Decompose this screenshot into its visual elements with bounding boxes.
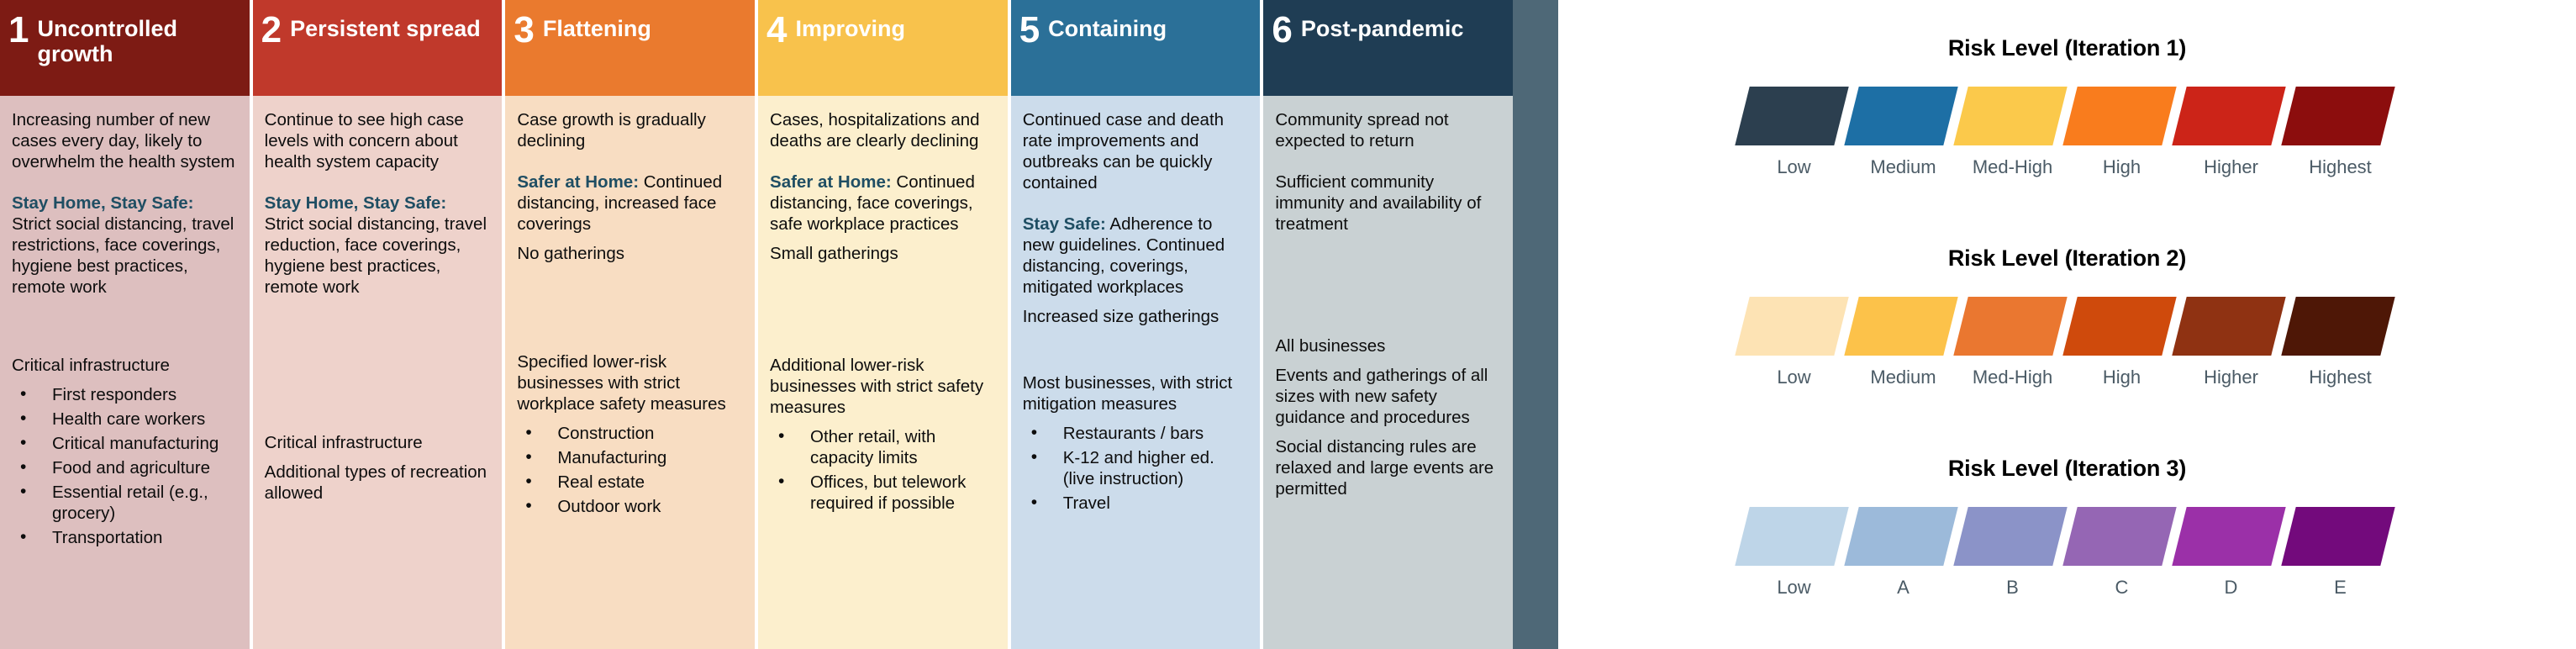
legend-title: Risk Level (Iteration 1) xyxy=(1558,35,2576,61)
list-item: Critical manufacturing xyxy=(12,433,236,454)
phase-business-bullets: First respondersHealth care workersCriti… xyxy=(12,384,236,548)
phase-header-5: 5Containing xyxy=(1011,0,1261,96)
phase-status-text: Community spread not expected to return xyxy=(1275,109,1499,151)
risk-level-legend-panel: Risk Level (Iteration 1)LowMediumMed-Hig… xyxy=(1558,0,2576,649)
phase-body-2: Continue to see high case levels with co… xyxy=(253,96,503,649)
legend-title: Risk Level (Iteration 3) xyxy=(1558,456,2576,482)
phase-business-extra: Additional types of recreation allowed xyxy=(265,462,489,504)
list-item: Construction xyxy=(517,423,741,444)
phase-number: 5 xyxy=(1019,13,1039,47)
legend-item[interactable]: Low xyxy=(1740,87,1849,178)
legend-block-1: Risk Level (Iteration 1)LowMediumMed-Hig… xyxy=(1558,17,2576,227)
phase-guidance-lead: Safer at Home: xyxy=(517,172,639,192)
legend-item[interactable]: C xyxy=(2068,507,2177,599)
legend-item[interactable]: E xyxy=(2286,507,2395,599)
legend-swatch-label: Highest xyxy=(2309,367,2372,388)
list-item: Health care workers xyxy=(12,409,236,430)
phase-status-text: Case growth is gradually declining xyxy=(517,109,741,151)
legend-swatch xyxy=(2281,297,2394,356)
phase-guidance: Sufficient community immunity and availa… xyxy=(1275,171,1499,235)
list-item: Outdoor work xyxy=(517,496,741,517)
phase-gatherings: Increased size gatherings xyxy=(1023,306,1247,327)
phase-title: Persistent spread xyxy=(290,13,481,41)
legend-swatch xyxy=(1735,507,1848,566)
legend-swatch xyxy=(1953,297,2067,356)
legend-item[interactable]: Med-High xyxy=(1958,87,2068,178)
phase-status-text: Increasing number of new cases every day… xyxy=(12,109,236,172)
layout-spacer xyxy=(770,284,994,355)
legend-swatch-label: B xyxy=(2006,577,2019,599)
legend-swatch-label: Low xyxy=(1777,577,1810,599)
phase-number: 3 xyxy=(514,13,533,47)
legend-swatch xyxy=(2172,87,2285,145)
phase-guidance-text: Strict social distancing, travel reducti… xyxy=(265,214,487,297)
phase-guidance: Stay Safe: Adherence to new guidelines. … xyxy=(1023,214,1247,298)
legend-item[interactable]: A xyxy=(1849,507,1958,599)
phase-business-bullets: ConstructionManufacturingReal estateOutd… xyxy=(517,423,741,517)
phase-header-1: 1Uncontrolled growth xyxy=(0,0,250,96)
legend-item[interactable]: High xyxy=(2068,87,2177,178)
phase-title: Improving xyxy=(796,13,906,41)
legend-swatch xyxy=(2172,507,2285,566)
phase-business-extra-2: Social distancing rules are relaxed and … xyxy=(1275,436,1499,499)
list-item: First responders xyxy=(12,384,236,405)
legend-swatch-label: High xyxy=(2103,156,2141,178)
phase-business-heading: Critical infrastructure xyxy=(12,355,236,376)
phase-guidance-lead: Stay Home, Stay Safe: xyxy=(265,193,446,213)
phase-column-4[interactable]: 4ImprovingCases, hospitalizations and de… xyxy=(758,0,1008,649)
phase-column-1[interactable]: 1Uncontrolled growthIncreasing number of… xyxy=(0,0,250,649)
phase-business-extra: Events and gatherings of all sizes with … xyxy=(1275,365,1499,428)
legend-swatch-label: Med-High xyxy=(1973,367,2052,388)
legend-swatch-label: Higher xyxy=(2204,367,2258,388)
legend-swatch xyxy=(1735,87,1848,145)
phase-header-6: 6Post-pandemic xyxy=(1263,0,1513,96)
phase-body-3: Case growth is gradually decliningSafer … xyxy=(505,96,755,649)
list-item: Transportation xyxy=(12,527,236,548)
list-item: Travel xyxy=(1023,493,1247,514)
list-item: Manufacturing xyxy=(517,447,741,468)
legend-scale: LowMediumMed-HighHighHigherHighest xyxy=(1558,297,2576,388)
list-item: Offices, but telework required if possib… xyxy=(770,472,994,514)
legend-swatch xyxy=(2281,87,2394,145)
phase-guidance-lead: Stay Safe: xyxy=(1023,214,1106,234)
phase-business-heading: Specified lower-risk businesses with str… xyxy=(517,351,741,414)
phase-guidance-text: Strict social distancing, travel restric… xyxy=(12,214,234,297)
phase-status-text: Cases, hospitalizations and deaths are c… xyxy=(770,109,994,151)
legend-swatch-label: Higher xyxy=(2204,156,2258,178)
covid-phase-matrix-screen: 1Uncontrolled growthIncreasing number of… xyxy=(0,0,2576,649)
list-item: Real estate xyxy=(517,472,741,493)
phase-body-5: Continued case and death rate improvemen… xyxy=(1011,96,1261,649)
legend-scale: LowMediumMed-HighHighHigherHighest xyxy=(1558,87,2576,178)
phase-number: 2 xyxy=(261,13,281,47)
layout-spacer xyxy=(517,284,741,351)
legend-swatch xyxy=(1844,87,1957,145)
legend-item[interactable]: Medium xyxy=(1849,87,1958,178)
legend-swatch xyxy=(2281,507,2394,566)
phase-gatherings: Small gatherings xyxy=(770,243,994,264)
phase-number: 1 xyxy=(8,13,28,47)
phase-column-6[interactable]: 6Post-pandemicCommunity spread not expec… xyxy=(1263,0,1513,649)
phase-business-heading: Additional lower-risk businesses with st… xyxy=(770,355,994,418)
legend-swatch xyxy=(1953,87,2067,145)
legend-swatch xyxy=(1844,507,1957,566)
legend-item[interactable]: D xyxy=(2177,507,2286,599)
legend-scale: LowABCDE xyxy=(1558,507,2576,599)
phase-matrix: 1Uncontrolled growthIncreasing number of… xyxy=(0,0,1513,649)
phase-number: 6 xyxy=(1272,13,1291,47)
phase-body-1: Increasing number of new cases every day… xyxy=(0,96,250,649)
legend-item[interactable]: High xyxy=(2068,297,2177,388)
legend-swatch-label: Highest xyxy=(2309,156,2372,178)
legend-item[interactable]: Med-High xyxy=(1958,297,2068,388)
phase-body-4: Cases, hospitalizations and deaths are c… xyxy=(758,96,1008,649)
phase-body-6: Community spread not expected to returnS… xyxy=(1263,96,1513,649)
legend-swatch xyxy=(2062,297,2176,356)
legend-swatch-label: Low xyxy=(1777,156,1810,178)
legend-swatch xyxy=(1735,297,1848,356)
legend-item[interactable]: Low xyxy=(1740,507,1849,599)
edge-strip xyxy=(1513,0,1558,649)
legend-swatch xyxy=(2062,507,2176,566)
phase-number: 4 xyxy=(766,13,786,47)
phase-guidance-text: Sufficient community immunity and availa… xyxy=(1275,172,1481,234)
legend-item[interactable]: Higher xyxy=(2177,297,2286,388)
legend-swatch-label: A xyxy=(1897,577,1910,599)
phase-status-text: Continue to see high case levels with co… xyxy=(265,109,489,172)
phase-header-4: 4Improving xyxy=(758,0,1008,96)
phase-column-2[interactable]: 2Persistent spreadContinue to see high c… xyxy=(253,0,503,649)
phase-guidance: Safer at Home: Continued distancing, inc… xyxy=(517,171,741,235)
phase-business-bullets: Restaurants / barsK-12 and higher ed. (l… xyxy=(1023,423,1247,514)
phase-guidance: Stay Home, Stay Safe: Strict social dist… xyxy=(12,193,236,298)
legend-block-2: Risk Level (Iteration 2)LowMediumMed-Hig… xyxy=(1558,227,2576,437)
list-item: Food and agriculture xyxy=(12,457,236,478)
phase-header-3: 3Flattening xyxy=(505,0,755,96)
legend-swatch-label: C xyxy=(2115,577,2129,599)
legend-swatch-label: Medium xyxy=(1870,367,1936,388)
phase-guidance-lead: Stay Home, Stay Safe: xyxy=(12,193,193,213)
phase-title: Post-pandemic xyxy=(1301,13,1464,41)
phase-guidance-lead: Safer at Home: xyxy=(770,172,892,192)
legend-swatch-label: D xyxy=(2225,577,2238,599)
legend-swatch-label: Medium xyxy=(1870,156,1936,178)
layout-spacer xyxy=(1023,347,1247,372)
legend-swatch-label: High xyxy=(2103,367,2141,388)
legend-item[interactable]: B xyxy=(1958,507,2068,599)
legend-swatch-label: Low xyxy=(1777,367,1810,388)
list-item: Other retail, with capacity limits xyxy=(770,426,994,468)
legend-item[interactable]: Low xyxy=(1740,297,1849,388)
legend-swatch-label: E xyxy=(2334,577,2347,599)
list-item: Essential retail (e.g., grocery) xyxy=(12,482,236,524)
phase-business-heading: Most businesses, with strict mitigation … xyxy=(1023,372,1247,414)
list-item: Restaurants / bars xyxy=(1023,423,1247,444)
phase-title: Containing xyxy=(1048,13,1167,41)
phase-guidance: Stay Home, Stay Safe: Strict social dist… xyxy=(265,193,489,298)
phase-guidance: Safer at Home: Continued distancing, fac… xyxy=(770,171,994,235)
legend-swatch xyxy=(1844,297,1957,356)
phase-column-3[interactable]: 3FlatteningCase growth is gradually decl… xyxy=(505,0,755,649)
legend-title: Risk Level (Iteration 2) xyxy=(1558,245,2576,272)
legend-swatch xyxy=(2062,87,2176,145)
phase-title: Flattening xyxy=(543,13,651,41)
list-item: K-12 and higher ed. (live instruction) xyxy=(1023,447,1247,489)
legend-item[interactable]: Medium xyxy=(1849,297,1958,388)
phase-business-heading: All businesses xyxy=(1275,335,1499,356)
legend-item[interactable]: Highest xyxy=(2286,87,2395,178)
phase-column-5[interactable]: 5ContainingContinued case and death rate… xyxy=(1011,0,1261,649)
phase-business-bullets: Other retail, with capacity limitsOffice… xyxy=(770,426,994,514)
legend-swatch-label: Med-High xyxy=(1973,156,2052,178)
legend-block-3: Risk Level (Iteration 3)LowABCDE xyxy=(1558,437,2576,647)
layout-spacer xyxy=(12,306,236,355)
layout-spacer xyxy=(1275,243,1499,335)
phase-header-2: 2Persistent spread xyxy=(253,0,503,96)
phase-business-heading: Critical infrastructure xyxy=(265,432,489,453)
layout-spacer xyxy=(265,306,489,432)
phase-gatherings: No gatherings xyxy=(517,243,741,264)
legend-swatch xyxy=(1953,507,2067,566)
legend-swatch xyxy=(2172,297,2285,356)
legend-item[interactable]: Highest xyxy=(2286,297,2395,388)
phase-status-text: Continued case and death rate improvemen… xyxy=(1023,109,1247,193)
phase-title: Uncontrolled growth xyxy=(37,13,237,66)
legend-item[interactable]: Higher xyxy=(2177,87,2286,178)
